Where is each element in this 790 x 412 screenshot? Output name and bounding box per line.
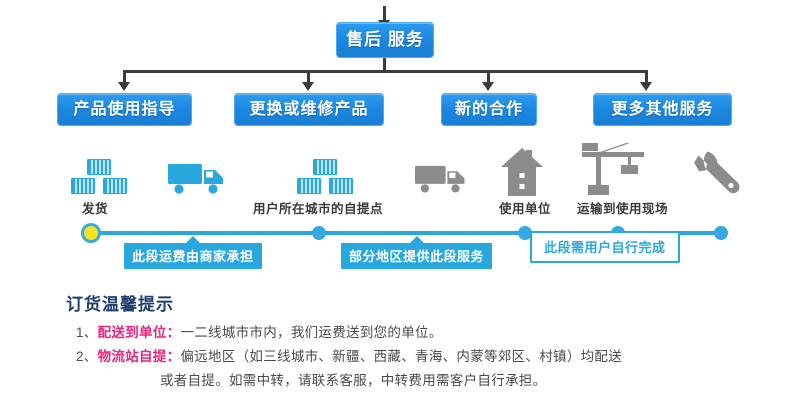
flow-leaf-box-more-services[interactable]: 更多其他服务 [593,93,732,126]
crane-icon [580,143,648,200]
note-keyword: 物流站自提： [98,349,181,364]
arrow-into-leaf-0-icon [118,82,130,91]
flow-leaf-box-new-cooperation[interactable]: 新的合作 [441,93,537,126]
note-number: 2、 [76,349,98,364]
timeline-tag-text: 此段运费由商家承担 [132,249,254,264]
note-text: 偏远地区（如三线城市、新疆、西藏、青海、内蒙等郊区、村镇）均配送 [180,349,622,364]
arrow-into-leaf-2-icon [482,82,494,91]
note-keyword: 配送到单位： [98,325,181,340]
note-number: 1、 [76,325,98,340]
notes-title: 订货温馨提示 [66,290,174,315]
flow-root-box[interactable]: 售后 服务 [336,22,434,58]
house-icon [501,148,543,201]
tag-notch-icon [186,236,200,243]
cargo-containers-icon [70,158,128,201]
delivery-truck-icon [415,162,469,200]
wrench-icon [694,150,742,201]
journey-label-5: 运输到使用现场 [577,198,668,217]
timeline-dot-end[interactable] [714,226,728,240]
flow-leaf-box-product-guide[interactable]: 产品使用指导 [57,93,192,126]
note-text: 或者自提。如需中转，请联系客服，中转费用需客户自行承担。 [160,373,546,388]
timeline-tag-merchant-pays: 此段运费由商家承担 [124,243,262,269]
timeline-dot-1[interactable] [312,226,326,240]
delivery-truck-icon [168,160,228,201]
note-item-1: 1、配送到单位：一二线城市市内，我们运费送到您的单位。 [76,321,443,341]
journey-label-4: 使用单位 [499,198,551,217]
note-text: 一二线城市市内，我们运费送到您的单位。 [180,325,442,340]
note-item-2-line-2: 或者自提。如需中转，请联系客服，中转费用需客户自行承担。 [160,369,546,389]
connector-bus [123,70,645,73]
flow-leaf-box-replace-repair[interactable]: 更换或维修产品 [234,93,384,126]
timeline-dot-start[interactable] [84,226,98,240]
arrow-into-leaf-3-icon [640,82,652,91]
note-item-2: 2、物流站自提：偏远地区（如三线城市、新疆、西藏、青海、内蒙等郊区、村镇）均配送 [76,345,622,365]
arrow-into-leaf-1-icon [302,82,314,91]
journey-label-0: 发货 [82,198,108,217]
tag-notch-icon [410,236,424,243]
timeline-tag-text: 此段需用户自行完成 [544,240,666,255]
promo-service-infographic: 售后 服务 产品使用指导 更换或维修产品 新的合作 更多其他服务 发货 [0,0,790,412]
timeline-tag-self-complete: 此段需用户自行完成 [530,233,680,263]
timeline-tag-text: 部分地区提供此段服务 [349,249,484,264]
journey-label-2: 用户所在城市的自提点 [253,198,383,217]
cargo-containers-icon [296,158,354,201]
timeline-tag-partial-region: 部分地区提供此段服务 [341,243,492,269]
